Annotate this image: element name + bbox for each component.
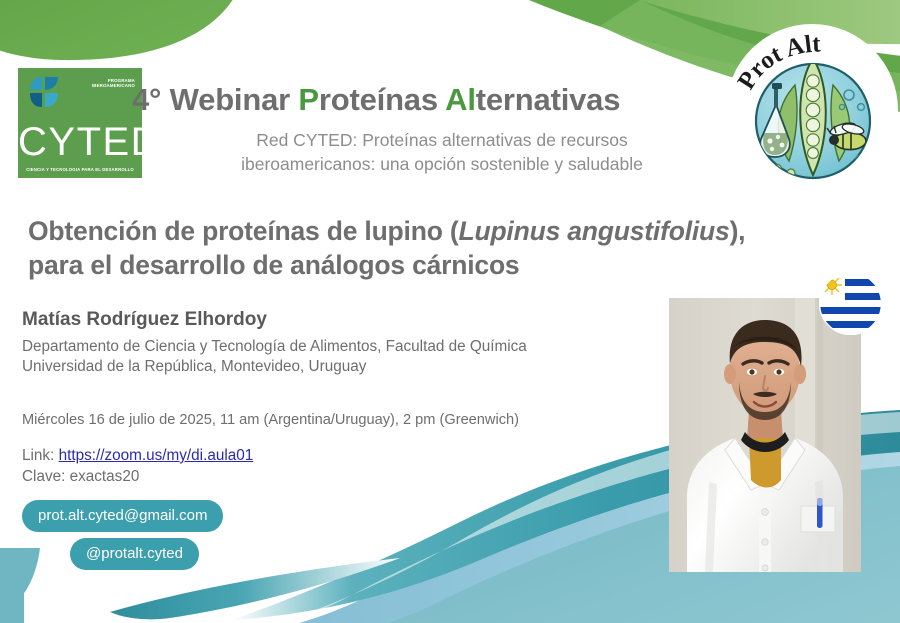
event-password-row: Clave: exactas20	[22, 466, 139, 487]
uruguay-flag-icon	[819, 272, 882, 335]
prot-alt-logo: Prot Alt	[737, 33, 889, 183]
talk-title-species: Lupinus angustifolius	[458, 216, 729, 246]
event-password-label: Clave:	[22, 468, 70, 485]
contact-social-badge[interactable]: @protalt.cyted	[70, 538, 199, 570]
speaker-photo	[669, 298, 861, 572]
event-datetime: Miércoles 16 de julio de 2025, 11 am (Ar…	[22, 410, 519, 430]
webinar-subtitle-line2: iberoamericanos: una opción sostenible y…	[132, 152, 752, 176]
webinar-title-part2: roteínas	[319, 82, 445, 117]
cyted-cross-icon	[28, 77, 62, 111]
talk-title: Obtención de proteínas de lupino (Lupinu…	[28, 214, 878, 282]
talk-title-line2: para el desarrollo de análogos cárnicos	[28, 250, 519, 280]
cyted-tagline: CIENCIA Y TECNOLOGIA PARA EL DESARROLLO	[18, 167, 142, 172]
webinar-subtitle: Red CYTED: Proteínas alternativas de rec…	[132, 128, 752, 176]
webinar-title-part3: ternativas	[476, 82, 620, 117]
webinar-title-accent1: P	[298, 82, 318, 117]
webinar-title: 4° Webinar Proteínas Alternativas	[132, 82, 752, 118]
cyted-wordmark: CYTED	[18, 122, 142, 162]
speaker-affiliation-line1: Departamento de Ciencia y Tecnología de …	[22, 337, 662, 357]
webinar-poster: PROGRAMA IBEROAMERICANO CYTED CIENCIA Y …	[0, 0, 900, 623]
talk-title-post: ),	[730, 216, 746, 246]
speaker-affiliation: Departamento de Ciencia y Tecnología de …	[22, 337, 662, 377]
webinar-title-part1: 4° Webinar	[132, 82, 298, 117]
webinar-subtitle-line1: Red CYTED: Proteínas alternativas de rec…	[132, 128, 752, 152]
webinar-title-accent2: Al	[445, 82, 476, 117]
event-link-label: Link:	[22, 447, 59, 464]
event-password-value: exactas20	[70, 468, 140, 485]
zoom-link[interactable]: https://zoom.us/my/di.aula01	[59, 447, 254, 464]
talk-title-pre: Obtención de proteínas de lupino (	[28, 216, 458, 246]
contact-email-badge[interactable]: prot.alt.cyted@gmail.com	[22, 500, 223, 532]
cyted-logo: PROGRAMA IBEROAMERICANO CYTED CIENCIA Y …	[18, 68, 142, 178]
event-link-row: Link: https://zoom.us/my/di.aula01	[22, 445, 253, 466]
cyted-programa-text: PROGRAMA IBEROAMERICANO	[79, 78, 135, 89]
speaker-name: Matías Rodríguez Elhordoy	[22, 308, 267, 332]
speaker-affiliation-line2: Universidad de la República, Montevideo,…	[22, 357, 662, 377]
